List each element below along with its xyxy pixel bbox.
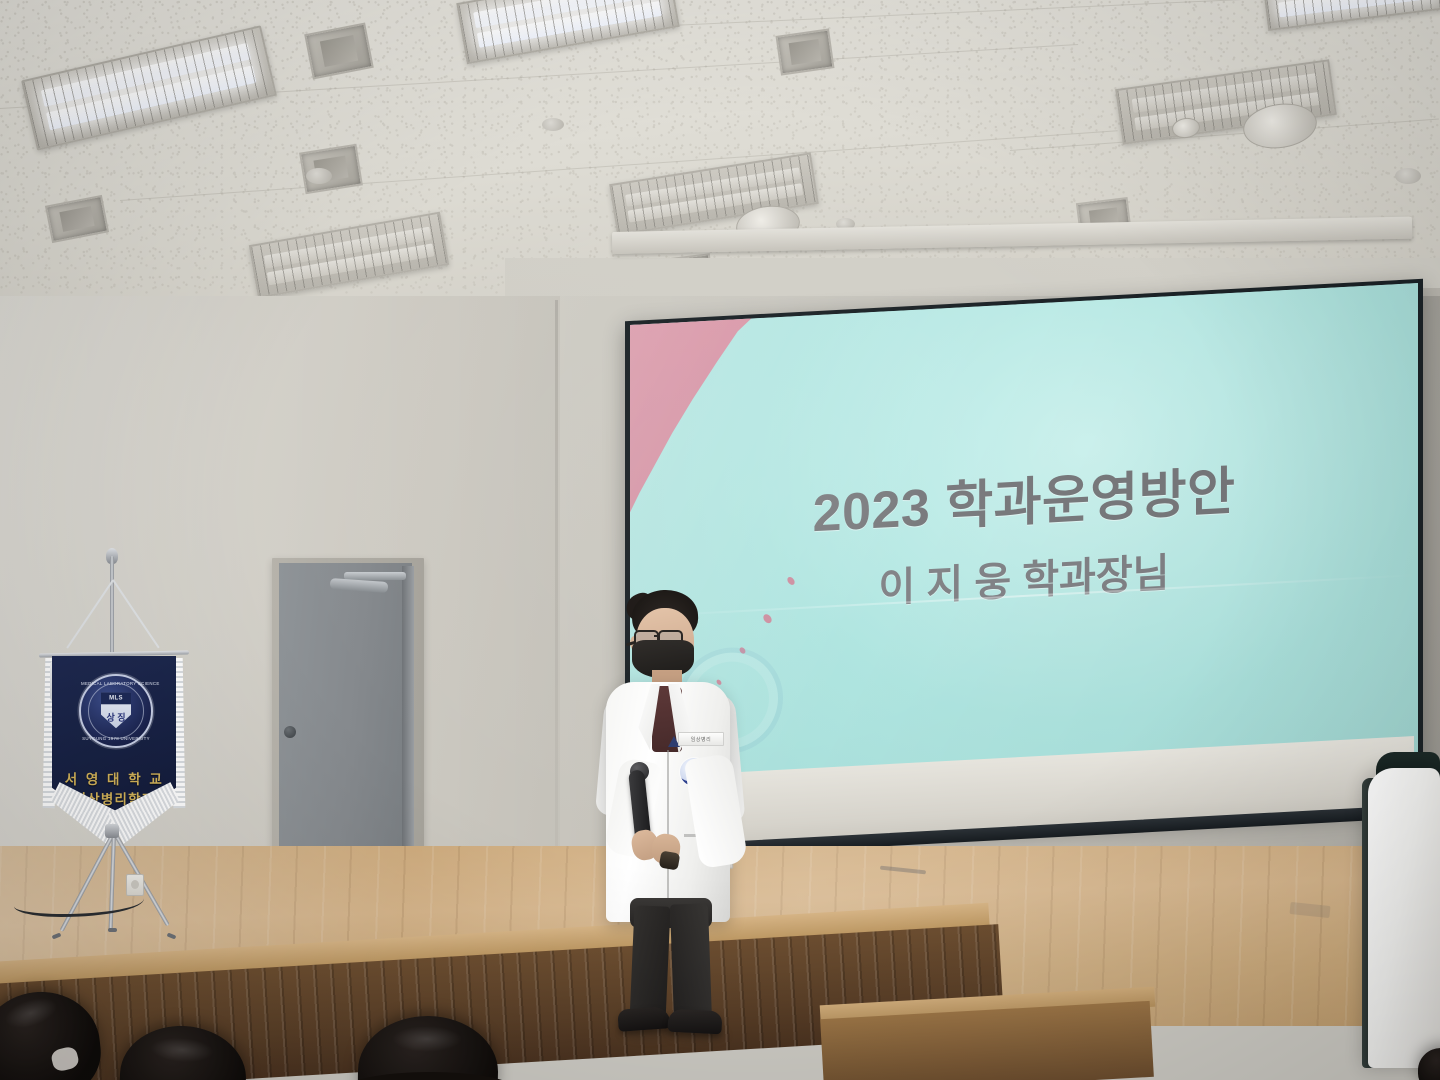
- guy-wire: [66, 580, 113, 649]
- presenter: 임상병리: [560, 590, 780, 1040]
- tripod-foot: [52, 932, 62, 939]
- shoe-right: [667, 1009, 722, 1035]
- emblem-ring-text-top: MEDICAL LABORATORY SCIENCE: [81, 681, 151, 686]
- pennant-text-line2: 임상병리학과: [22, 788, 207, 808]
- door-edge: [402, 566, 414, 886]
- door-knob[interactable]: [284, 726, 296, 738]
- tripod-foot: [167, 932, 177, 939]
- ceiling-air-diffuser: [775, 28, 834, 75]
- wristwatch: [659, 850, 681, 870]
- tripod-leg: [109, 832, 116, 930]
- shoe-left: [617, 1006, 670, 1032]
- lab-coat-seam: [667, 750, 669, 916]
- air-purifier[interactable]: [1368, 768, 1440, 1068]
- pennant-text-line1: 서 영 대 학 교: [22, 768, 207, 788]
- guy-wire: [112, 580, 159, 649]
- tripod-hub: [105, 824, 119, 838]
- ceiling-smoke-detector: [306, 168, 332, 184]
- wall-corner: [555, 300, 558, 860]
- leg-left: [629, 905, 670, 1022]
- audience-head-highlight: [392, 1026, 462, 1052]
- tripod-foot: [108, 928, 117, 932]
- university-emblem: MEDICAL LABORATORY SCIENCE SUYOUNG 1978 …: [79, 674, 153, 748]
- lecture-hall-photo: 2023 학과운영방안 이 지 웅 학과장님: [0, 0, 1440, 1080]
- ceiling-smoke-detector: [542, 118, 564, 131]
- leg-right: [670, 903, 712, 1022]
- department-pennant: MEDICAL LABORATORY SCIENCE SUYOUNG 1978 …: [22, 556, 207, 956]
- ceiling-smoke-detector: [1395, 168, 1421, 184]
- emblem-ring-text-bottom: SUYOUNG 1978 UNIVERSITY: [81, 736, 151, 741]
- glasses-bridge: [654, 635, 660, 637]
- name-tag: 임상병리: [678, 732, 724, 746]
- ceiling-air-diffuser: [299, 144, 363, 195]
- room-door[interactable]: [279, 563, 412, 888]
- power-cable: [14, 888, 144, 917]
- emblem-shield-text: MLS: [101, 692, 131, 704]
